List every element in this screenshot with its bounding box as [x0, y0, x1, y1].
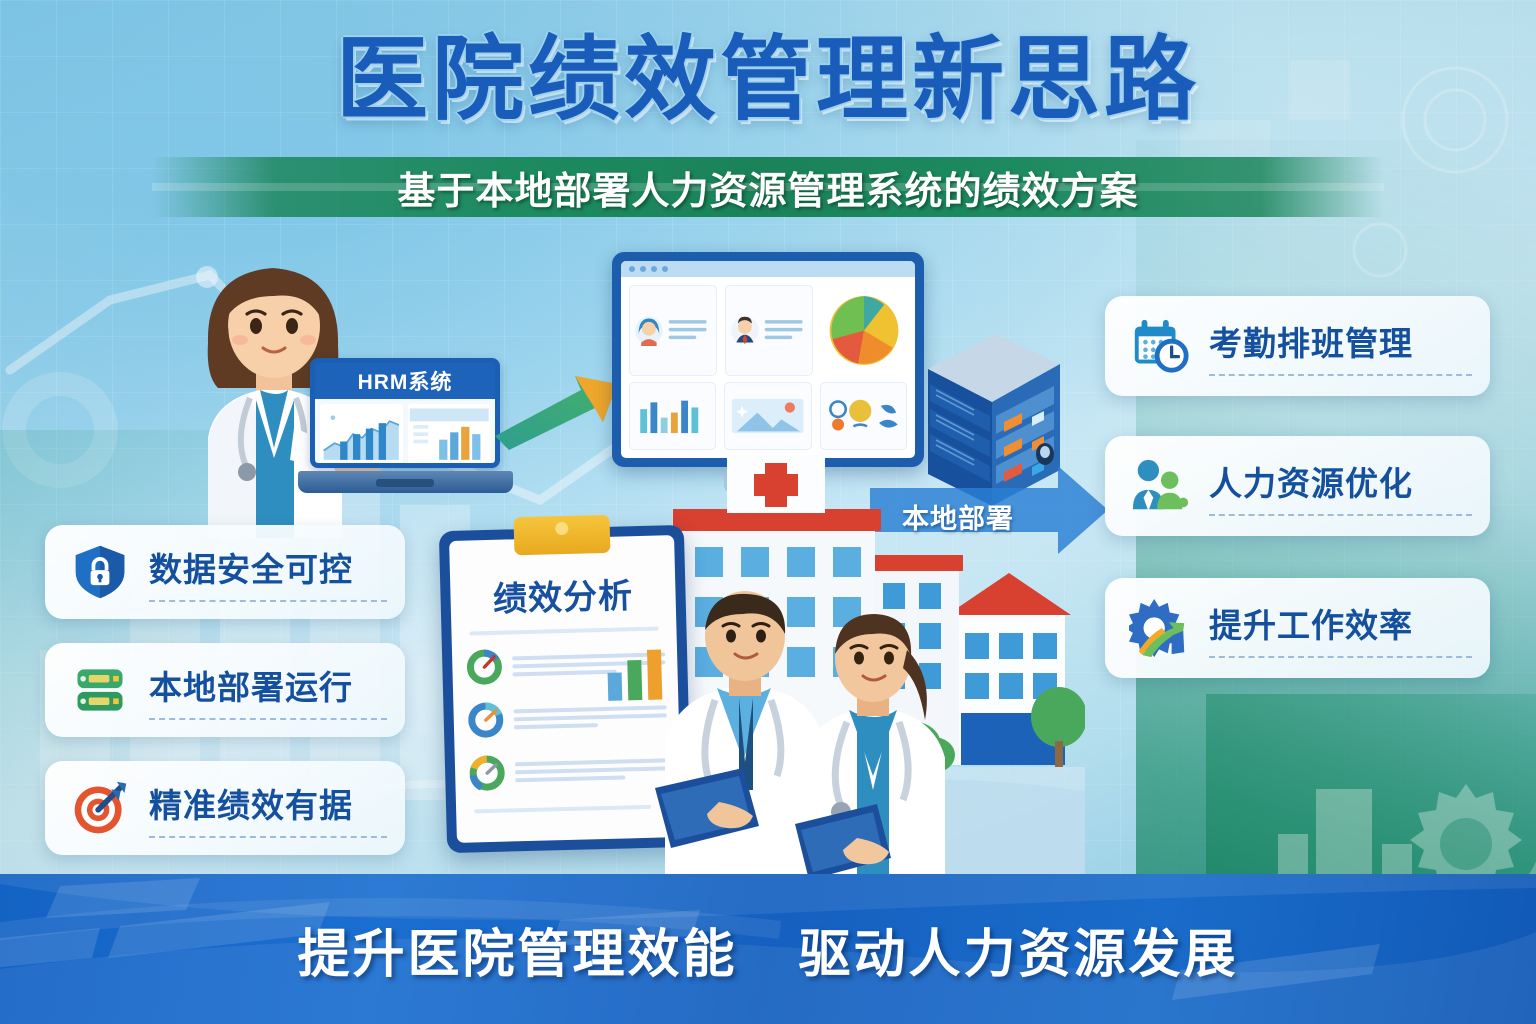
card-dashed-rule: [1209, 514, 1472, 516]
green-flow-arrow-icon: [495, 370, 625, 450]
card-text: 本地部署运行: [149, 661, 387, 720]
monitor-screen: [621, 261, 915, 458]
employee-profile-card-male: [725, 285, 813, 376]
laptop-area-chart: [320, 404, 403, 468]
sidebar-item-accurate-performance[interactable]: 精准绩效有据: [45, 761, 405, 855]
window-dot: [640, 266, 646, 272]
bottom-banner-text: 提升医院管理效能 驱动人力资源发展: [298, 912, 1239, 987]
dashboard-row-top: [629, 285, 907, 376]
people-group-icon: [1123, 449, 1197, 523]
window-dot: [629, 266, 635, 272]
card-dashed-rule: [1209, 656, 1472, 658]
laptop-trackpad: [376, 479, 434, 487]
clipboard-text-lines: [515, 758, 668, 782]
shield-lock-icon: [63, 535, 137, 609]
clipboard-metric-row: [467, 748, 669, 793]
gear-growth-icon: [1123, 591, 1197, 665]
card-text: 精准绩效有据: [149, 779, 387, 838]
dashboard-image-placeholder: [724, 382, 811, 450]
calendar-clock-icon: [1123, 309, 1197, 383]
browser-titlebar: [621, 261, 915, 277]
database-server-icon: [63, 653, 137, 727]
subtitle-banner: 基于本地部署人力资源管理系统的绩效方案: [152, 157, 1384, 217]
sidebar-item-local-deployment[interactable]: 本地部署运行: [45, 643, 405, 737]
laptop-hrm-label: HRM系统: [358, 366, 453, 396]
card-dashed-rule: [149, 718, 387, 720]
clipboard-metric-row: [465, 695, 667, 740]
laptop-screen-body: [315, 399, 495, 468]
dashboard-monitor-illustration: [612, 252, 924, 467]
card-label: 本地部署运行: [149, 661, 387, 709]
laptop-screen: HRM系统: [310, 358, 500, 468]
second-doctor-illustration: [765, 610, 1015, 895]
sidebar-item-hr-optimization[interactable]: 人力资源优化: [1105, 436, 1490, 536]
card-label: 精准绩效有据: [149, 779, 387, 827]
title-area: 医院绩效管理新思路: [0, 34, 1536, 128]
card-label: 考勤排班管理: [1209, 317, 1472, 365]
bottom-text-part-1: 提升医院管理效能: [298, 926, 738, 984]
clipboard-title: 绩效分析: [462, 567, 664, 621]
dashboard-grid: [621, 277, 915, 458]
gauge-chart-icon: [465, 700, 506, 741]
dashboard-misc-icons: [820, 382, 907, 450]
card-text: 考勤排班管理: [1209, 317, 1472, 376]
target-dart-icon: [63, 771, 137, 845]
laptop-base: [298, 471, 513, 493]
clipboard-footer-line: [474, 805, 651, 814]
subtitle-text: 基于本地部署人力资源管理系统的绩效方案: [397, 160, 1138, 215]
card-text: 人力资源优化: [1209, 457, 1472, 516]
card-dashed-rule: [149, 836, 387, 838]
sidebar-item-attendance-scheduling[interactable]: 考勤排班管理: [1105, 296, 1490, 396]
clipboard-clasp: [513, 515, 610, 555]
bottom-text-part-2: 驱动人力资源发展: [798, 926, 1238, 984]
window-dot: [662, 266, 668, 272]
gauge-chart-icon: [467, 753, 508, 794]
clipboard-divider: [469, 627, 658, 636]
clipboard-text-lines: [514, 705, 667, 729]
card-dashed-rule: [149, 600, 387, 602]
dashboard-bar-chart: [629, 382, 716, 450]
monitor-frame: [612, 252, 924, 467]
laptop-bar-chart: [408, 404, 491, 468]
card-label: 人力资源优化: [1209, 457, 1472, 505]
laptop-device: HRM系统: [298, 358, 513, 493]
employee-profile-card-female: [629, 285, 717, 376]
card-dashed-rule: [1209, 374, 1472, 376]
infographic-poster: 医院绩效管理新思路 基于本地部署人力资源管理系统的绩效方案: [0, 0, 1536, 1024]
clipboard-paper: 绩效分析: [449, 535, 682, 843]
laptop-screen-header: HRM系统: [315, 363, 495, 399]
page-title: 医院绩效管理新思路: [0, 34, 1536, 128]
card-text: 提升工作效率: [1209, 599, 1472, 658]
dashboard-row-bottom: [629, 382, 907, 450]
card-label: 提升工作效率: [1209, 599, 1472, 647]
bottom-banner: 提升医院管理效能 驱动人力资源发展: [0, 874, 1536, 1024]
sidebar-item-work-efficiency[interactable]: 提升工作效率: [1105, 578, 1490, 678]
gauge-chart-icon: [464, 647, 505, 688]
dashboard-pie-chart: [821, 285, 907, 376]
sidebar-item-data-security[interactable]: 数据安全可控: [45, 525, 405, 619]
card-text: 数据安全可控: [149, 543, 387, 602]
window-dot: [651, 266, 657, 272]
card-label: 数据安全可控: [149, 543, 387, 591]
